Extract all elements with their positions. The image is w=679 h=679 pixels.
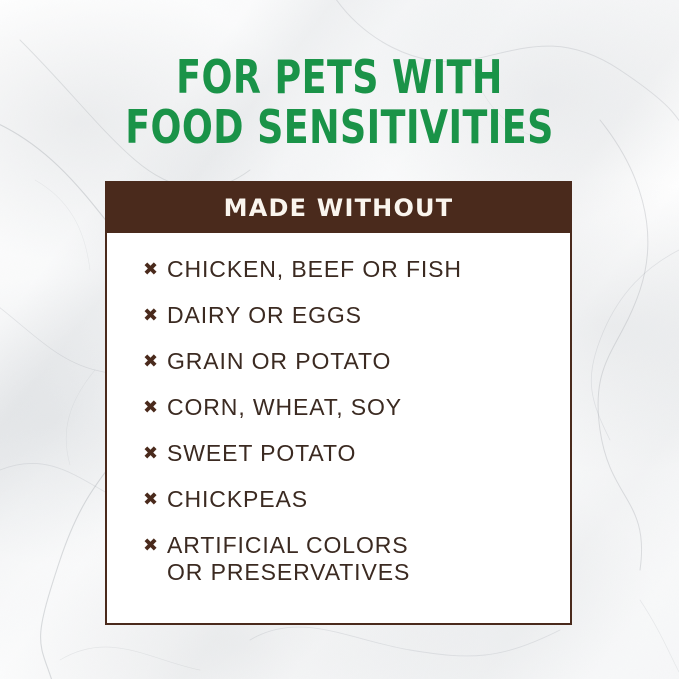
x-mark-icon: ✖ [143,486,167,513]
list-item: ✖ CHICKEN, BEEF OR FISH [143,256,570,283]
list-item-label: CHICKPEAS [167,486,308,513]
list-item: ✖ GRAIN OR POTATO [143,348,570,375]
list-item: ✖ SWEET POTATO [143,440,570,467]
x-mark-icon: ✖ [143,256,167,283]
list-item-label: DAIRY OR EGGS [167,302,362,329]
card-header-bar: MADE WITHOUT [107,183,570,233]
heading-line-2: FOOD SENSITIVITIES [41,102,639,152]
poster-heading: FOR PETS WITH FOOD SENSITIVITIES [0,52,679,152]
list-item: ✖ DAIRY OR EGGS [143,302,570,329]
heading-line-1: FOR PETS WITH [41,52,639,102]
x-mark-icon: ✖ [143,532,167,559]
list-item: ✖ CORN, WHEAT, SOY [143,394,570,421]
made-without-card: MADE WITHOUT ✖ CHICKEN, BEEF OR FISH ✖ D… [105,181,572,625]
x-mark-icon: ✖ [143,440,167,467]
list-item: ✖ ARTIFICIAL COLORS OR PRESERVATIVES [143,532,570,586]
x-mark-icon: ✖ [143,394,167,421]
list-item: ✖ CHICKPEAS [143,486,570,513]
list-item-label: CHICKEN, BEEF OR FISH [167,256,462,283]
list-item-label: GRAIN OR POTATO [167,348,391,375]
poster-canvas: FOR PETS WITH FOOD SENSITIVITIES MADE WI… [0,0,679,679]
list-item-label: SWEET POTATO [167,440,356,467]
card-header-title: MADE WITHOUT [224,194,454,222]
list-item-label: ARTIFICIAL COLORS OR PRESERVATIVES [167,532,410,586]
excluded-ingredients-list: ✖ CHICKEN, BEEF OR FISH ✖ DAIRY OR EGGS … [107,233,570,586]
list-item-label: CORN, WHEAT, SOY [167,394,402,421]
x-mark-icon: ✖ [143,302,167,329]
x-mark-icon: ✖ [143,348,167,375]
